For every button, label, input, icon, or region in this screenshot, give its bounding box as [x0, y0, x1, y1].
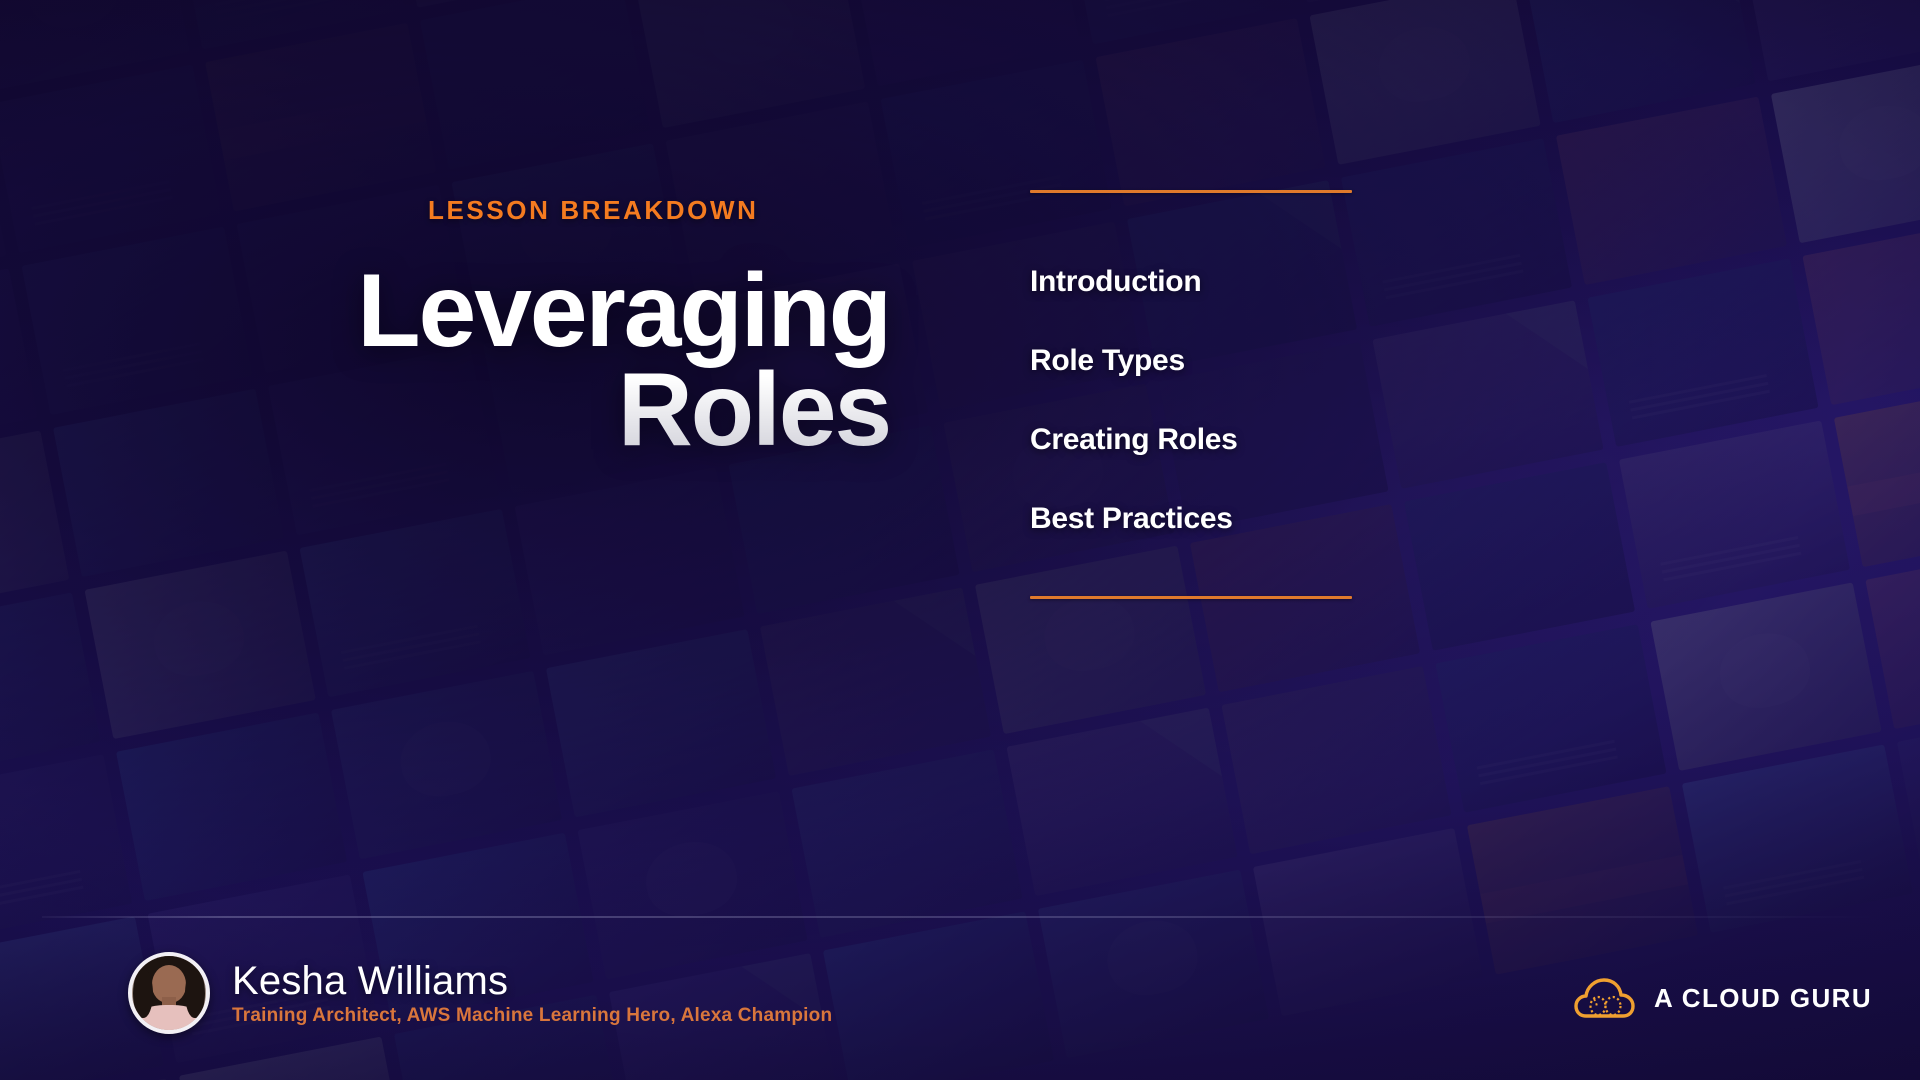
- agenda-panel: Introduction Role Types Creating Roles B…: [1030, 190, 1352, 599]
- agenda-item-introduction[interactable]: Introduction: [1030, 265, 1352, 299]
- footer-divider: [42, 916, 1878, 918]
- slide-root: LESSON BREAKDOWN Leveraging Roles Introd…: [0, 0, 1920, 1080]
- page-title-line-1: Leveraging: [180, 262, 890, 361]
- agenda-divider-top: [1030, 190, 1352, 193]
- brand-logo: A CLOUD GURU: [1574, 975, 1872, 1021]
- eyebrow-label: LESSON BREAKDOWN: [428, 195, 759, 226]
- page-title: Leveraging Roles: [180, 262, 890, 460]
- agenda-divider-bottom: [1030, 596, 1352, 599]
- cloud-guru-icon: [1574, 975, 1636, 1021]
- page-title-line-2: Roles: [180, 361, 890, 460]
- presenter-role: Training Architect, AWS Machine Learning…: [232, 1005, 832, 1027]
- agenda-list: Introduction Role Types Creating Roles B…: [1030, 265, 1352, 536]
- presenter-text: Kesha Williams Training Architect, AWS M…: [232, 959, 832, 1027]
- agenda-item-creating-roles[interactable]: Creating Roles: [1030, 423, 1352, 457]
- brand-name: A CLOUD GURU: [1654, 983, 1872, 1014]
- agenda-item-best-practices[interactable]: Best Practices: [1030, 502, 1352, 536]
- presenter-block: Kesha Williams Training Architect, AWS M…: [128, 952, 832, 1034]
- agenda-item-role-types[interactable]: Role Types: [1030, 344, 1352, 378]
- slide-content: LESSON BREAKDOWN Leveraging Roles Introd…: [0, 0, 1920, 1080]
- avatar: [128, 952, 210, 1034]
- presenter-name: Kesha Williams: [232, 959, 832, 1004]
